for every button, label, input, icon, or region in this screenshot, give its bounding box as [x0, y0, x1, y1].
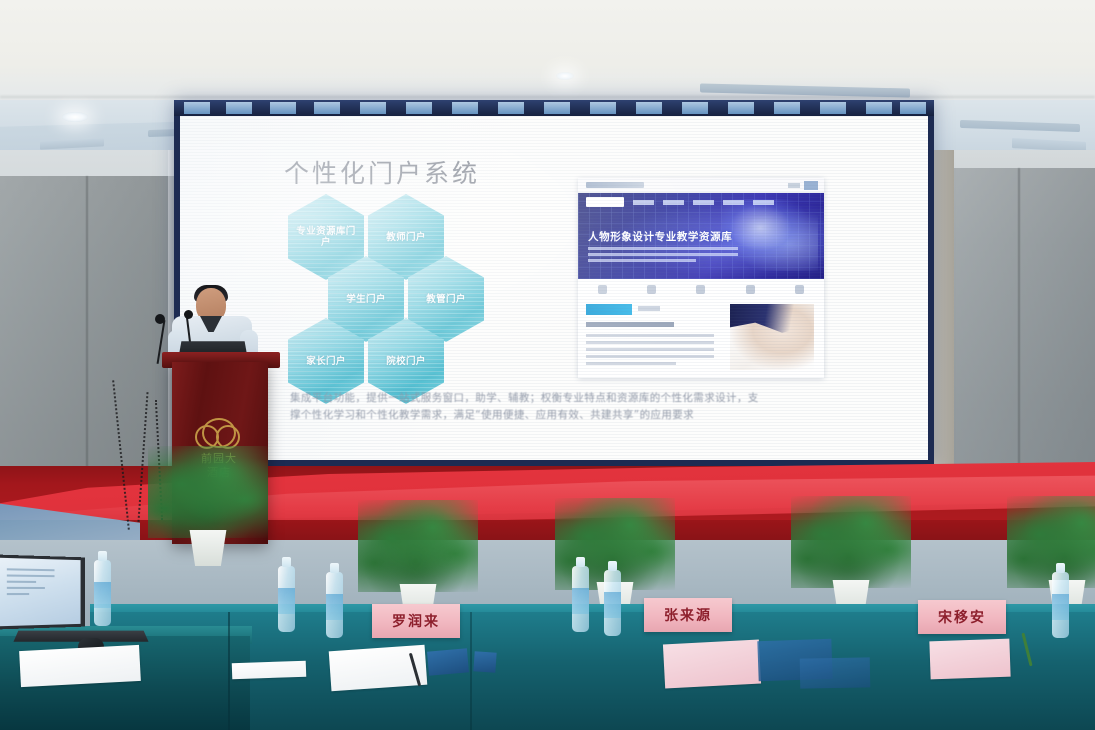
microphone-icon — [155, 314, 165, 324]
nameplate: 张来源 — [644, 598, 732, 632]
hexagon-label: 教管门户 — [420, 294, 472, 305]
water-bottle — [326, 572, 343, 638]
nameplate-text: 宋移安 — [938, 607, 986, 627]
blue-folder — [800, 657, 871, 688]
content-heading — [586, 322, 674, 327]
nav-item — [693, 200, 714, 205]
website-nav — [578, 196, 824, 208]
content-tag-badge — [586, 304, 632, 315]
blue-folder — [473, 651, 496, 672]
water-bottle — [572, 566, 589, 632]
hotel-logo-icon — [202, 418, 236, 448]
site-icon — [746, 285, 755, 294]
microphone-icon — [184, 310, 193, 319]
nameplate: 罗润来 — [372, 604, 460, 638]
document-folder — [929, 639, 1010, 680]
website-browser-bar — [578, 178, 824, 193]
nameplate: 宋移安 — [918, 600, 1006, 634]
potted-plant — [148, 500, 268, 566]
paper-document — [232, 661, 307, 680]
site-icon — [795, 285, 804, 294]
nameplate-text: 罗润来 — [392, 611, 440, 631]
laptop — [0, 555, 85, 630]
hexagon-label: 家长门户 — [300, 356, 352, 367]
conference-scene: 个性化门户系统 专业资源库门户 教师门户 学生门户 教管门户 家长门户 院校门户 — [0, 0, 1095, 730]
table-cloth-crease — [470, 612, 472, 730]
slide-description: 集成平台功能，提供一站式服务窗口，助学、辅教；权衡专业特点和资源库的个性化需求设… — [290, 390, 850, 424]
nav-item — [663, 200, 684, 205]
plant-pot — [185, 530, 231, 566]
wall-seam — [86, 176, 88, 476]
website-icon-row — [578, 281, 824, 297]
nav-item — [753, 200, 774, 205]
table-cloth-crease — [228, 612, 230, 730]
laptop-screen-content — [7, 568, 55, 599]
slide-description-line2: 撑个性化学习和个性化教学需求，满足“使用便捷、应用有效、共建共享”的应用要求 — [290, 407, 850, 424]
water-bottle — [1052, 572, 1069, 638]
website-topright-text — [788, 183, 800, 188]
hexagon-label: 教师门户 — [380, 232, 432, 243]
plant-leaves — [791, 496, 911, 588]
bottle-label — [572, 588, 589, 614]
nav-item — [723, 200, 744, 205]
hexagon-diagram: 专业资源库门户 教师门户 学生门户 教管门户 家长门户 院校门户 — [288, 194, 528, 382]
hexagon-label: 院校门户 — [380, 356, 432, 367]
bottle-label — [604, 592, 621, 618]
water-bottle — [604, 570, 621, 636]
ceiling-downlight — [62, 112, 88, 122]
bottle-label — [94, 582, 111, 608]
nav-item — [633, 200, 654, 205]
nameplate-text: 张来源 — [664, 605, 712, 625]
hero-banner-title: 人物形象设计专业教学资源库 — [588, 229, 732, 244]
plant-leaves — [358, 500, 478, 592]
website-logo — [586, 182, 644, 188]
left-wall-panel — [0, 176, 176, 476]
bottle-label — [278, 588, 295, 614]
website-screenshot: 人物形象设计专业教学资源库 — [578, 178, 824, 378]
bottle-label — [326, 594, 343, 620]
website-login-button — [804, 181, 818, 190]
slide-description-line1: 集成平台功能，提供一站式服务窗口，助学、辅教；权衡专业特点和资源库的个性化需求设… — [290, 390, 850, 407]
slide-title: 个性化门户系统 — [284, 154, 480, 190]
potted-plant — [788, 500, 914, 616]
led-screen-bezel — [174, 100, 934, 116]
site-icon — [647, 285, 656, 294]
content-paragraph — [586, 334, 714, 369]
website-content-section — [578, 298, 824, 378]
bottle-label — [1052, 594, 1069, 620]
website-hero-banner: 人物形象设计专业教学资源库 — [578, 193, 824, 279]
hexagon-label: 专业资源库门户 — [288, 226, 364, 248]
nav-item-home — [586, 197, 624, 207]
plant-leaves — [148, 446, 268, 538]
water-bottle — [94, 560, 111, 626]
hero-banner-subtext — [588, 247, 738, 265]
site-icon — [598, 285, 607, 294]
paper-document — [19, 645, 141, 687]
presentation-slide: 个性化门户系统 专业资源库门户 教师门户 学生门户 教管门户 家长门户 院校门户 — [180, 116, 928, 460]
document-folder — [663, 640, 761, 689]
hexagon-label: 学生门户 — [340, 294, 392, 305]
content-tag-secondary — [638, 306, 660, 311]
blue-folder — [427, 648, 469, 675]
water-bottle — [278, 566, 295, 632]
plant-leaves — [1007, 496, 1095, 588]
ceiling-downlight — [556, 72, 574, 80]
ceiling-seam — [0, 96, 1095, 98]
site-icon — [696, 285, 705, 294]
